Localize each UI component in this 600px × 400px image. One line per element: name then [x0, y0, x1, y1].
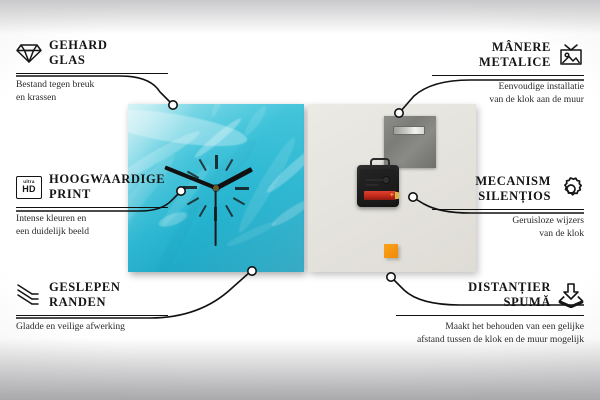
mechanism-detail-line [366, 179, 384, 181]
gear-icon [558, 176, 584, 202]
battery-plus-symbol: + [390, 191, 394, 200]
hanger-slot [393, 126, 425, 135]
ultra-hd-icon: ultra HD [16, 174, 42, 200]
feature-callout-manere-metalice[interactable]: MÂNEREMETALICE Eenvoudige installatievan… [432, 40, 584, 106]
feature-divider [396, 315, 584, 317]
quartz-mechanism-box: + [357, 165, 399, 207]
feature-description: Maakt het behouden van een gelijkeafstan… [396, 321, 584, 346]
feature-callout-geslepen-randen[interactable]: GESLEPENRANDEN Gladde en veilige afwerki… [16, 280, 168, 334]
feature-title: HOOGWAARDIGEPRINT [49, 172, 165, 203]
feature-divider [432, 209, 584, 211]
feature-description: Eenvoudige installatievan de klok aan de… [432, 81, 584, 106]
feature-divider [16, 207, 168, 209]
feature-title: MÂNEREMETALICE [479, 40, 551, 71]
feature-description: Gladde en veilige afwerking [16, 321, 168, 333]
feature-divider [432, 75, 584, 77]
spacer-down-arrow-icon [558, 282, 584, 308]
feature-callout-mecanism-silentios[interactable]: MECANISMSILENȚIOS Geruisloze wijzersvan … [432, 174, 584, 240]
feature-divider [16, 315, 168, 317]
feature-callout-hoogwaardige-print[interactable]: ultra HD HOOGWAARDIGEPRINT Intense kleur… [16, 172, 168, 238]
bevelled-edge-icon [16, 282, 42, 308]
aa-battery: + [364, 191, 396, 200]
battery-cap [395, 192, 399, 199]
feature-title: DISTANȚIERSPUMĂ [468, 280, 551, 311]
foam-spacer [384, 244, 398, 258]
mechanism-detail-line [366, 184, 378, 186]
mechanism-inner-housing: + [360, 169, 396, 204]
background-bottom-fade [0, 338, 600, 400]
feature-description: Geruisloze wijzersvan de klok [432, 215, 584, 240]
feature-callout-gehard-glas[interactable]: GEHARDGLAS Bestand tegen breuken krassen [16, 38, 168, 104]
ultra-hd-icon-label-main: HD [22, 185, 35, 194]
clock-second-hand [215, 188, 217, 246]
background-top-fade [0, 0, 600, 34]
feature-description: Bestand tegen breuken krassen [16, 79, 168, 104]
diamond-icon [16, 40, 42, 66]
feature-title: GESLEPENRANDEN [49, 280, 121, 311]
product-group: + [128, 104, 476, 272]
infographic-canvas: + [0, 0, 600, 400]
feature-description: Intense kleuren eneen duidelijk beeld [16, 213, 168, 238]
picture-frame-hanger-icon [558, 42, 584, 68]
metal-hanger-plate [384, 116, 436, 168]
feature-callout-distantier-spuma[interactable]: DISTANȚIERSPUMĂ Maakt het behouden van e… [396, 280, 584, 346]
feature-title: GEHARDGLAS [49, 38, 107, 69]
clock-center-hub [213, 185, 219, 191]
feature-divider [16, 73, 168, 75]
feature-title: MECANISMSILENȚIOS [475, 174, 551, 205]
